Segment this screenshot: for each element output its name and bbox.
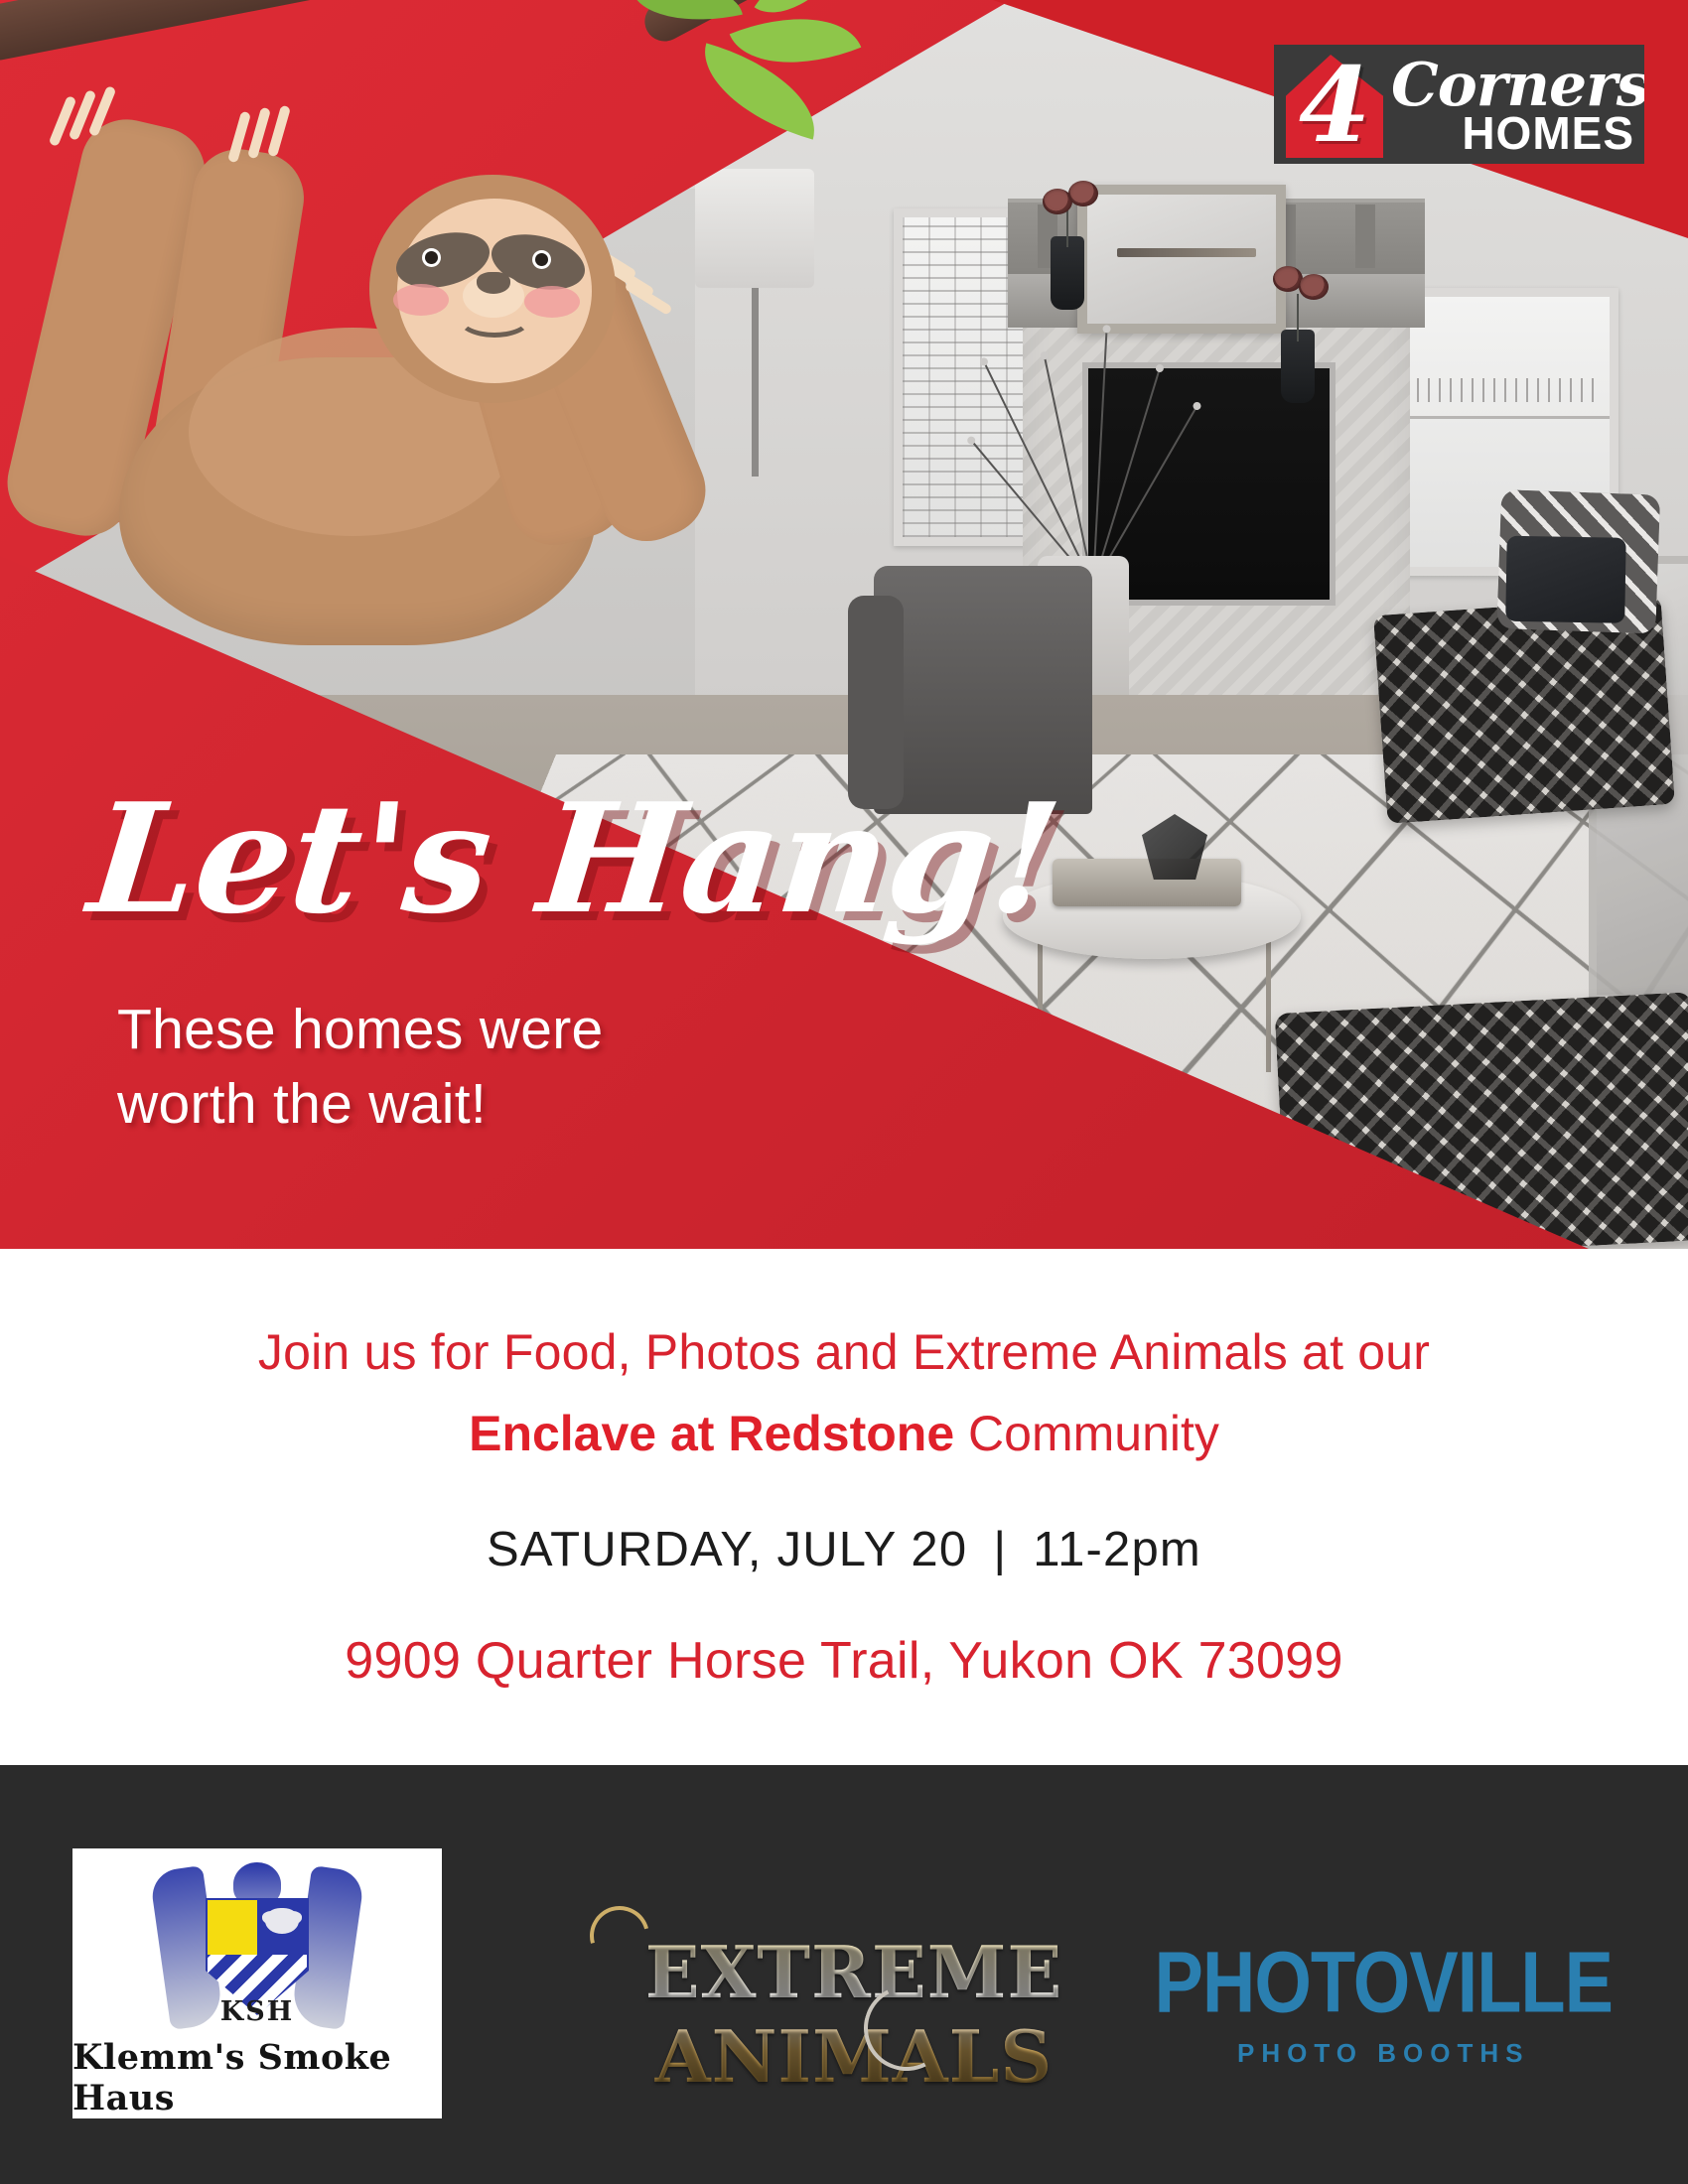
logo-house-numeral: 4 xyxy=(1274,45,1395,164)
klemms-monogram: KSH xyxy=(160,1996,354,2027)
poppy-flower xyxy=(1068,181,1098,206)
mirror-bar-detail xyxy=(1117,248,1256,257)
sloth-smile xyxy=(457,298,532,338)
logo-wordmark: Corners HOMES xyxy=(1395,45,1644,164)
mantel-mirror xyxy=(1077,185,1286,334)
patterned-chair-upper xyxy=(1373,596,1675,824)
sloth-claw xyxy=(267,105,291,158)
community-suffix: Community xyxy=(954,1406,1219,1461)
flyer-page: Let's Hang! These homes were worth the w… xyxy=(0,0,1688,2184)
page-title: Let's Hang! xyxy=(82,769,1067,947)
corbel xyxy=(1355,205,1375,268)
sloth-cheek-blush xyxy=(524,286,580,318)
poppy-vase-left xyxy=(1051,236,1084,310)
sponsor-extreme-animals[interactable]: EXTREME ANIMALS xyxy=(496,1930,1211,2099)
community-name: Enclave at Redstone xyxy=(469,1406,954,1461)
hero-subtitle-line2: worth the wait! xyxy=(117,1067,733,1142)
heraldic-crest-icon: KSH xyxy=(160,1862,354,2023)
community-line: Enclave at Redstone Community xyxy=(0,1405,1688,1462)
sloth-eye xyxy=(532,250,551,269)
sloth-eye xyxy=(422,248,441,267)
navy-pillow xyxy=(1505,536,1625,623)
photoville-tagline: PHOTO BOOTHS xyxy=(1155,2038,1613,2069)
sloth-cheek-blush xyxy=(393,284,449,316)
sponsor-photoville[interactable]: PHOTOVILLE PHOTO BOOTHS xyxy=(1155,1940,1613,2069)
hero-subtitle-line1: These homes were xyxy=(117,993,733,1067)
event-invitation-line: Join us for Food, Photos and Extreme Ani… xyxy=(0,1323,1688,1381)
event-date: SATURDAY, JULY 20 xyxy=(487,1523,967,1576)
sloth-nose xyxy=(477,272,510,294)
datetime-separator: | xyxy=(967,1523,1033,1576)
decor-tray xyxy=(1053,859,1241,906)
hero-subtitle: These homes were worth the wait! xyxy=(117,993,733,1142)
hero-section: Let's Hang! These homes were worth the w… xyxy=(0,0,1688,1249)
event-time: 11-2pm xyxy=(1033,1523,1201,1576)
photoville-wordmark: PHOTOVILLE xyxy=(1155,1932,1613,2031)
sponsor-klemms-smoke-haus[interactable]: KSH Klemm's Smoke Haus xyxy=(72,1848,442,2118)
event-datetime: SATURDAY, JULY 20|11-2pm xyxy=(0,1522,1688,1577)
sloth-illustration xyxy=(0,0,755,735)
logo-block-word: HOMES xyxy=(1462,106,1634,160)
sponsor-footer: KSH Klemm's Smoke Haus EXTREME ANIMALS P… xyxy=(0,1765,1688,2184)
event-details-section: Join us for Food, Photos and Extreme Ani… xyxy=(0,1249,1688,1765)
poppy-flower xyxy=(1299,274,1329,300)
logo-numeral-text: 4 xyxy=(1274,45,1395,164)
brand-logo[interactable]: 4 Corners HOMES xyxy=(1274,45,1644,164)
tree-branch xyxy=(0,0,746,65)
bull-head-icon xyxy=(265,1908,299,1934)
event-address: 9909 Quarter Horse Trail, Yukon OK 73099 xyxy=(0,1631,1688,1691)
branch-arrangement xyxy=(968,328,1216,586)
klemms-wordmark: Klemm's Smoke Haus xyxy=(72,2037,442,2118)
